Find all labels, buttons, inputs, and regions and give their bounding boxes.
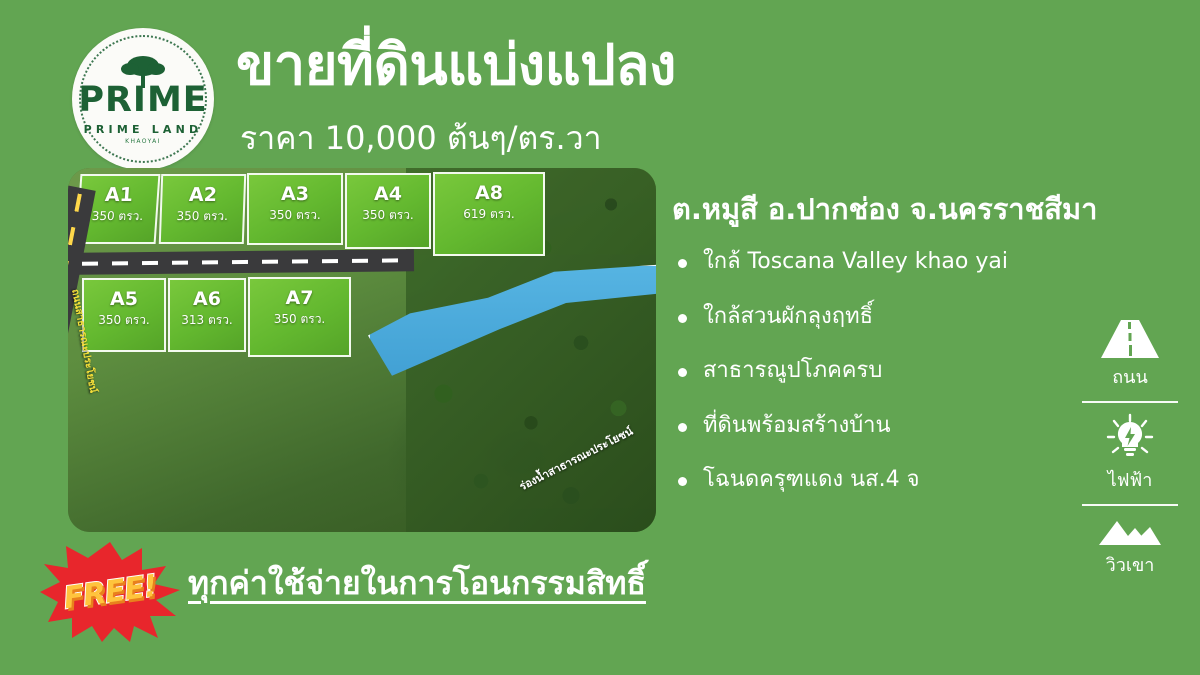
lot-a2: A2 350 ตรว. <box>159 174 246 244</box>
prime-land-logo: PRIME PRIME LAND KHAOYAI <box>72 28 214 170</box>
bullet-label: ที่ดินพร้อมสร้างบ้าน <box>703 412 891 440</box>
mountain-view-icon <box>1097 516 1163 548</box>
poster-header: PRIME PRIME LAND KHAOYAI ขายที่ดินแบ่งแป… <box>0 0 1200 165</box>
lot-size: 313 ตรว. <box>181 311 233 330</box>
lot-id: A7 <box>286 288 314 309</box>
bullet-label: ใกล้ Toscana Valley khao yai <box>703 248 1008 276</box>
lot-id: A6 <box>193 289 221 310</box>
amenity-electricity: ไฟฟ้า <box>1078 413 1182 494</box>
lot-size: 350 ตรว. <box>362 206 414 225</box>
lot-size: 350 ตรว. <box>274 310 326 329</box>
road-icon <box>1099 318 1161 360</box>
internal-road <box>76 249 414 275</box>
page-title: ขายที่ดินแบ่งแปลง <box>236 36 676 95</box>
logo-location-tag: KHAOYAI <box>125 138 161 145</box>
parcel-field: A1 350 ตรว. A2 350 ตรว. A3 350 ตรว. A4 3… <box>68 168 538 532</box>
plot-map-photo: A1 350 ตรว. A2 350 ตรว. A3 350 ตรว. A4 3… <box>68 168 656 532</box>
bullet-dot-icon <box>678 314 687 323</box>
lot-id: A1 <box>104 185 133 206</box>
amenity-mountain-view-label: วิวเขา <box>1106 550 1155 579</box>
lot-a3: A3 350 ตรว. <box>247 173 343 245</box>
divider <box>1082 401 1178 403</box>
amenity-mountain-view: วิวเขา <box>1078 516 1182 579</box>
amenity-road: ถนน <box>1078 318 1182 391</box>
lightbulb-electricity-icon <box>1102 413 1158 463</box>
location-heading: ต.หมูสี อ.ปากช่อง จ.นครราชสีมา <box>672 186 1097 232</box>
lot-size: 350 ตรว. <box>269 206 321 225</box>
bullet-label: ใกล้สวนผักลุงฤทธิ์ <box>703 303 873 331</box>
free-badge-label: FREE! <box>31 530 188 653</box>
lot-size: 619 ตรว. <box>463 205 515 224</box>
logo-subtitle: PRIME LAND <box>84 123 203 136</box>
lot-id: A4 <box>374 184 402 205</box>
lot-id: A3 <box>281 184 309 205</box>
bullet-label: สาธารณูปโภคครบ <box>703 357 882 385</box>
lot-a4: A4 350 ตรว. <box>345 173 431 249</box>
bullet-dot-icon <box>678 477 687 486</box>
lot-a6: A6 313 ตรว. <box>168 278 246 352</box>
lot-id: A5 <box>110 289 138 310</box>
lot-size: 350 ตรว. <box>98 311 150 330</box>
lot-id: A2 <box>189 185 218 206</box>
amenity-icon-column: ถนน ไฟฟ้า <box>1078 318 1182 579</box>
bullet-dot-icon <box>678 259 687 268</box>
lot-size: 350 ตรว. <box>176 207 228 226</box>
list-item: โฉนดครุฑแดง นส.4 จ <box>678 466 1098 494</box>
amenity-road-label: ถนน <box>1112 362 1148 391</box>
list-item: ที่ดินพร้อมสร้างบ้าน <box>678 412 1098 440</box>
bullet-label: โฉนดครุฑแดง นส.4 จ <box>703 466 919 494</box>
price-subtitle: ราคา 10,000 ต้นๆ/ตร.วา <box>240 113 602 164</box>
lot-a8: A8 619 ตรว. <box>433 172 545 256</box>
list-item: ใกล้สวนผักลุงฤทธิ์ <box>678 303 1098 331</box>
transfer-fee-note: ทุกค่าใช้จ่ายในการโอนกรรมสิทธิ์ <box>188 558 646 609</box>
land-sale-poster: PRIME PRIME LAND KHAOYAI ขายที่ดินแบ่งแป… <box>0 0 1200 675</box>
lot-a5: A5 350 ตรว. <box>82 278 166 352</box>
divider <box>1082 504 1178 506</box>
logo-wordmark: PRIME <box>78 83 207 118</box>
list-item: สาธารณูปโภคครบ <box>678 357 1098 385</box>
list-item: ใกล้ Toscana Valley khao yai <box>678 248 1098 276</box>
lot-a7: A7 350 ตรว. <box>248 277 351 357</box>
free-badge: FREE! <box>38 540 182 644</box>
lot-size: 350 ตรว. <box>91 207 144 226</box>
bullet-dot-icon <box>678 368 687 377</box>
amenity-electricity-label: ไฟฟ้า <box>1108 465 1153 494</box>
bullet-dot-icon <box>678 423 687 432</box>
feature-bullet-list: ใกล้ Toscana Valley khao yai ใกล้สวนผักล… <box>678 248 1098 521</box>
lot-id: A8 <box>475 183 503 204</box>
